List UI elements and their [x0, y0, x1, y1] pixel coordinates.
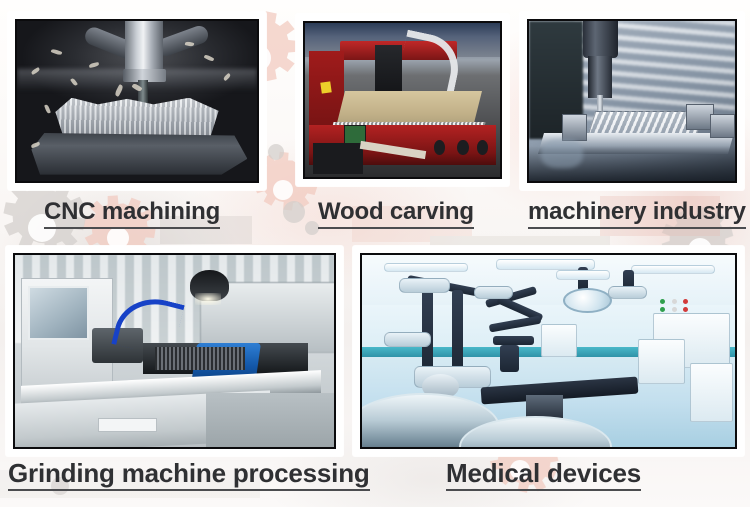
card-machinery-industry[interactable] — [520, 12, 744, 190]
image-medical-devices — [360, 253, 737, 449]
caption-cnc-machining: CNC machining — [44, 200, 220, 229]
image-wood-carving — [303, 21, 502, 179]
image-grinding-machine-processing — [13, 253, 336, 449]
caption-medical-devices: Medical devices — [446, 460, 641, 491]
caption-machinery-industry: machinery industry — [528, 200, 746, 229]
industries-grid-page: CNC machining Wood carving — [0, 0, 750, 507]
card-medical-devices[interactable] — [353, 246, 744, 456]
card-cnc-machining[interactable] — [8, 12, 266, 190]
card-grinding-machine-processing[interactable] — [6, 246, 343, 456]
image-machinery-industry — [527, 19, 737, 183]
image-cnc-machining — [15, 19, 259, 183]
card-wood-carving[interactable] — [296, 14, 509, 186]
caption-grinding-machine-processing: Grinding machine processing — [8, 460, 370, 491]
caption-wood-carving: Wood carving — [318, 200, 474, 229]
